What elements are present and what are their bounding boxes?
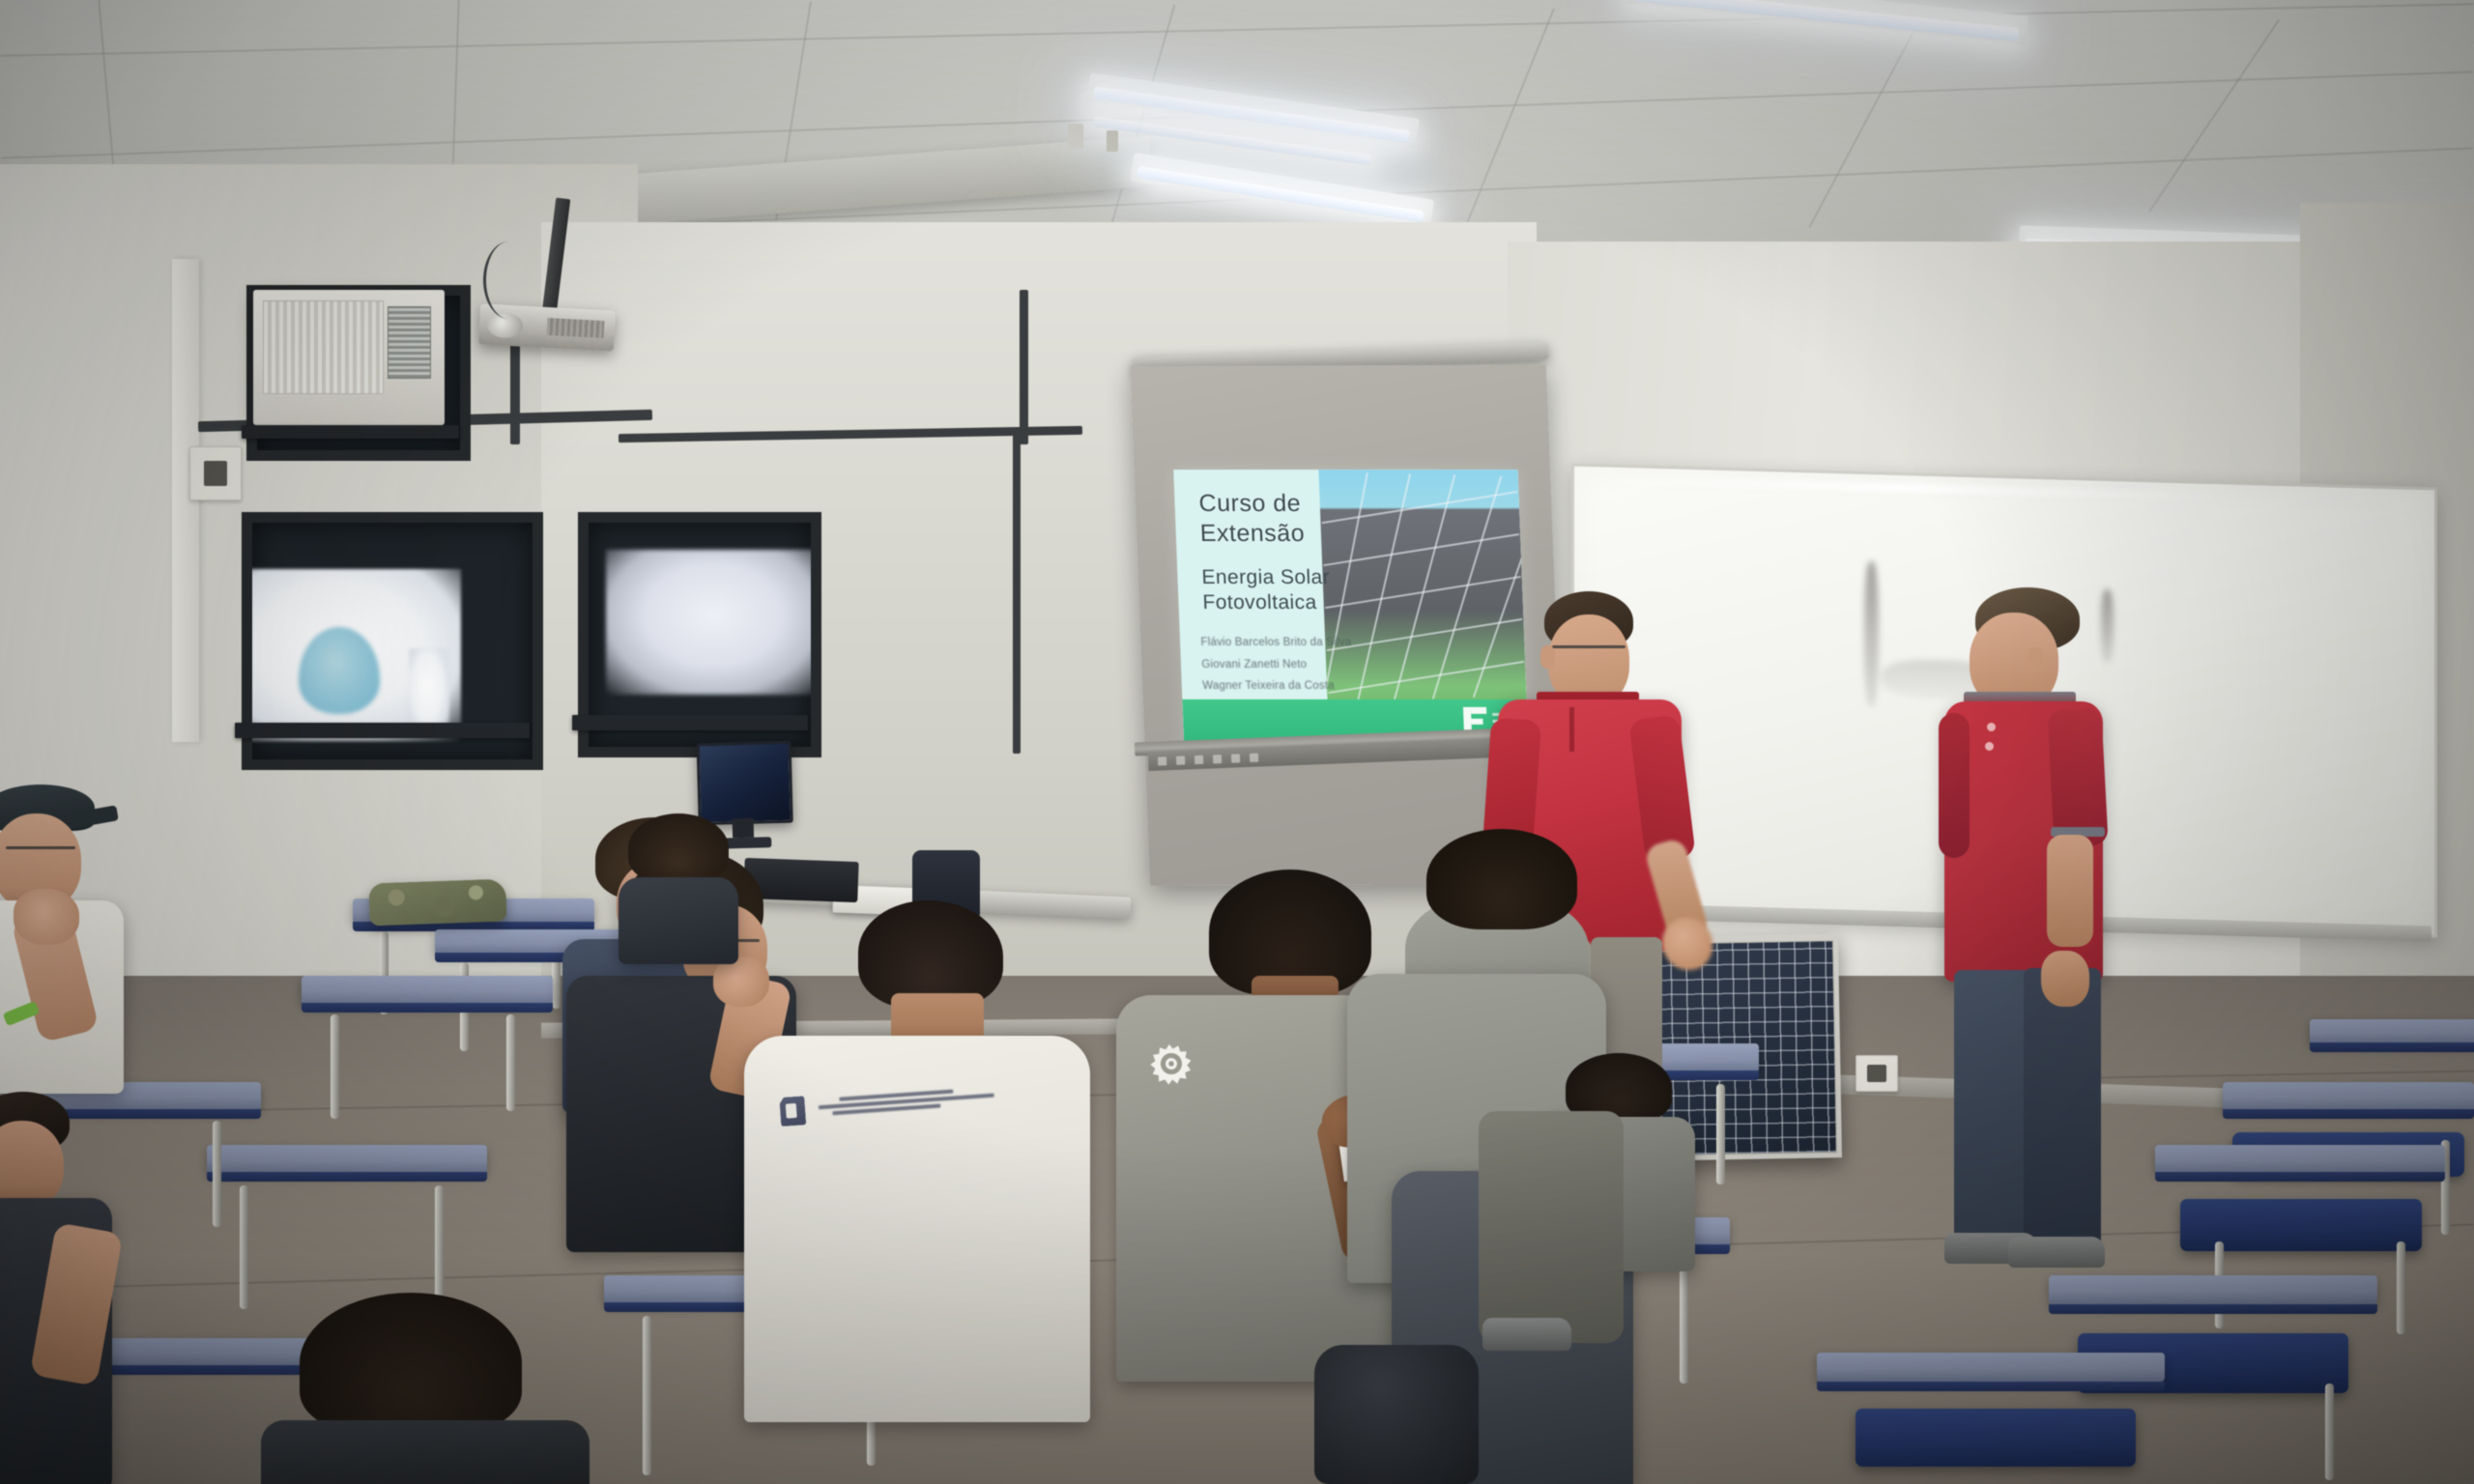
left-arm [1939,713,1970,858]
ceiling-hanger [1107,130,1118,152]
outlet-socket [1867,1065,1886,1081]
leg [1479,1111,1624,1343]
polo-button-1 [1987,723,1996,731]
polo-button-2 [1985,742,1994,751]
slide-subtitle-line2: Fotovoltaica [1202,590,1368,615]
desk-seat [1855,1409,2136,1467]
hand-in-pocket [2041,951,2089,1007]
browser-icon[interactable] [1194,755,1203,763]
hair [300,1293,522,1434]
desk-leg [1680,1262,1688,1384]
window-condensation-small [409,648,449,733]
slide-subtitle: Energia Solar Fotovoltaica [1201,565,1368,615]
window-sill [242,425,459,439]
desk-edge [1817,1382,2165,1391]
wall-pilaster [172,259,199,742]
desk-right-4 [1817,1353,2165,1484]
desk-edge [302,1003,553,1013]
desk-leg [213,1121,221,1227]
window-air-conditioner [253,290,445,425]
ear [2028,647,2043,672]
whiteboard-erase-mark [1864,561,1879,706]
left-leg-jeans [1954,970,2031,1256]
slide-title-line2: Extensão [1199,519,1359,548]
wall-conduit-drop [1020,290,1028,444]
desk-edge [2049,1304,2377,1314]
projector-cable [483,242,534,319]
window-condensation-patch [606,550,820,695]
eyeglasses-icon [1552,645,1625,648]
slide-title: Curso de Extensão [1198,489,1359,548]
tshirt-print-lines [818,1086,997,1119]
slide-author-3: Wagner Teixeira da Costa [1202,675,1389,697]
desk-top [1817,1353,2165,1382]
ear [1540,645,1555,669]
torso [618,877,738,964]
projected-slide: Curso de Extensão Energia Solar Fotovolt… [1173,470,1528,750]
student-cap-white-shirt [0,785,170,1132]
shoe [2008,1237,2105,1268]
window-icon[interactable] [1158,756,1166,765]
gear-logo-icon [1147,1040,1196,1089]
right-forearm [2047,835,2093,947]
slide-title-line1: Curso de [1198,489,1358,518]
student-white-tshirt-print [744,900,1111,1422]
hair [628,813,729,883]
school-logo-icon [779,1096,806,1127]
desk-leg [2397,1241,2405,1334]
desk-right-back [2310,1019,2474,1126]
hair [1426,829,1577,929]
desk-leg [506,1014,515,1111]
backpack-on-floor [1314,1345,1479,1484]
desk-edge [2155,1172,2445,1182]
classroom-photo: Curso de Extensão Energia Solar Fotovolt… [0,0,2474,1484]
slide-subtitle-line1: Energia Solar [1201,565,1367,590]
desk-edge [2310,1042,2474,1052]
desk-back-left-3 [302,976,553,1121]
outlet-socket [204,461,228,486]
wall-outlet[interactable] [1855,1055,1898,1092]
camo-pencil-case [368,879,506,927]
desk-leg [331,1014,339,1119]
ac-grille [263,300,384,394]
wall-conduit-down-left [1013,435,1021,754]
right-leg-jeans [2024,968,2101,1250]
clasped-hands [14,889,79,945]
projector-vent [547,318,605,339]
desk-top [2310,1019,2474,1044]
wall-outlet[interactable] [189,446,242,500]
app-icon[interactable] [1250,753,1258,761]
shoe [1482,1318,1571,1351]
eyeglasses-icon [6,846,75,849]
desk-leg [435,1185,444,1301]
app-icon[interactable] [1231,754,1240,762]
presenter-in-jeans [1942,587,2155,1264]
student-dark-shirt-front-left [0,1092,155,1484]
desk-leg [643,1316,651,1475]
polo-placket [1569,707,1574,752]
window-sill [235,723,530,738]
slide-author-1: Flávio Barcelos Brito da Silva [1200,632,1387,653]
folder-icon[interactable] [1176,756,1185,764]
student-foreground-bottom [271,1293,580,1484]
slide-authors: Flávio Barcelos Brito da Silva Giovani Z… [1200,632,1389,697]
desk-top [2155,1145,2445,1174]
ceiling-hanger [1068,124,1083,149]
shoulders [261,1420,590,1484]
right-hand [1662,918,1712,970]
ac-vent [388,306,432,379]
student-near-monitor [618,813,744,958]
window-sill [572,715,808,730]
app-icon[interactable] [1213,755,1222,763]
desk-leg [2325,1384,2334,1480]
desk-top [2049,1275,2377,1304]
student-center-seated [1479,1111,1633,1362]
whiteboard-glare [1592,475,2211,500]
desk-top [302,976,553,1005]
slide-author-2: Giovani Zanetti Neto [1201,654,1388,675]
